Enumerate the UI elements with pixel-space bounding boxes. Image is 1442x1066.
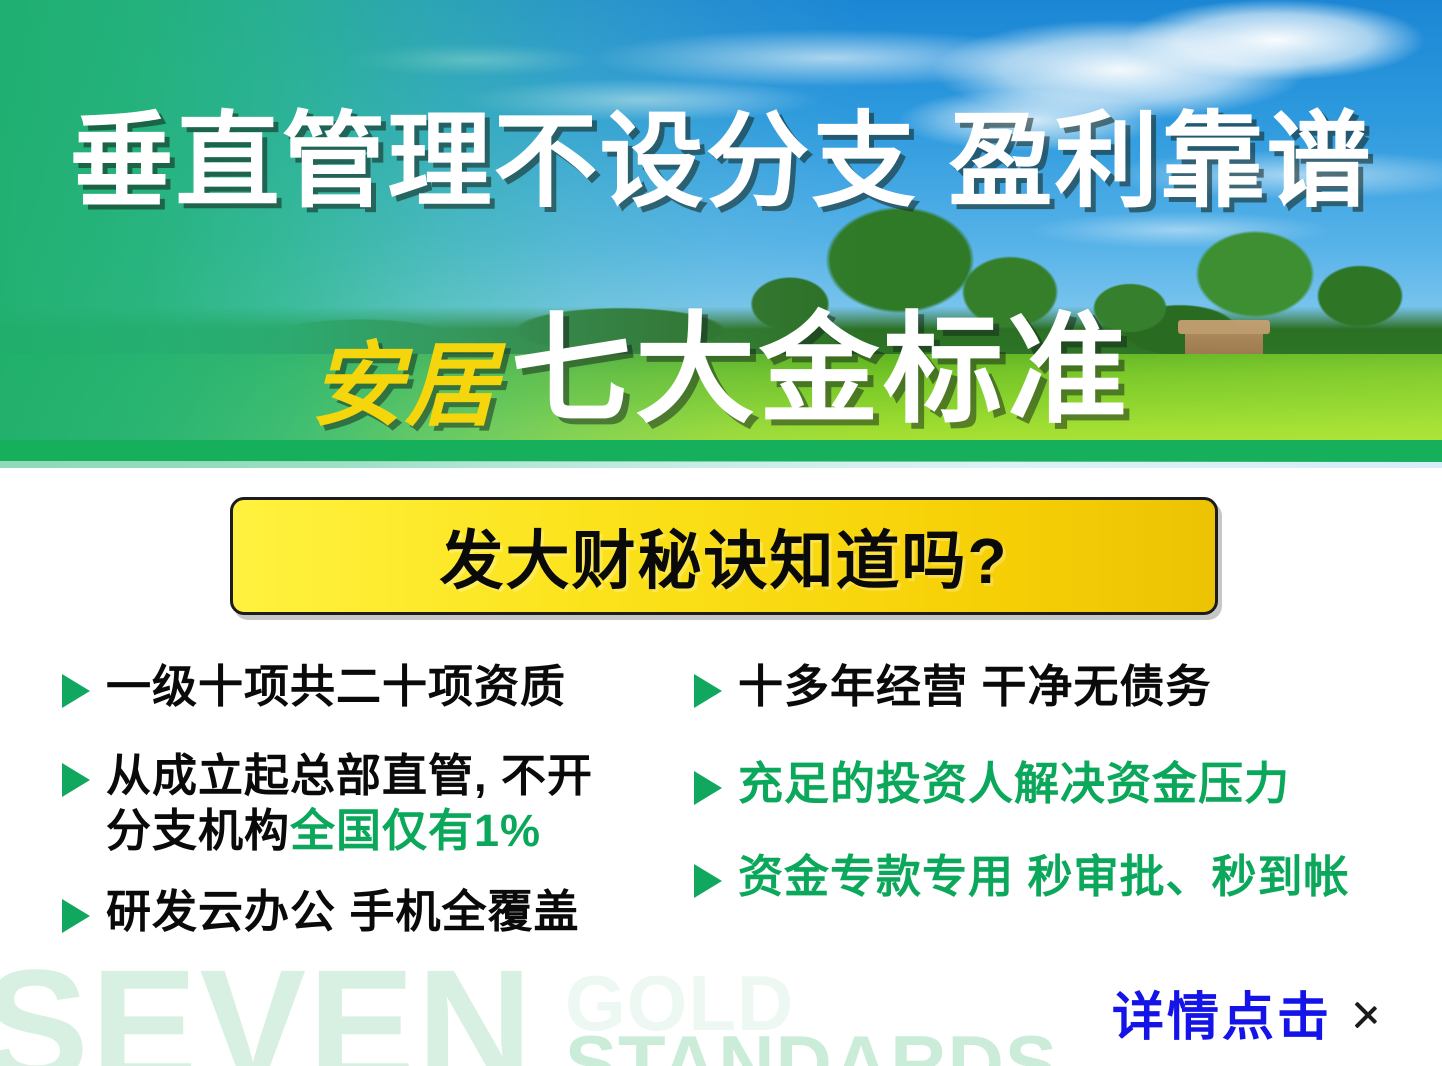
list-item: 充足的投资人解决资金压力 <box>694 757 1394 812</box>
feature-column-left: 一级十项共二十项资质 从成立起总部直管, 不开 分支机构全国仅有1% 研发云办公… <box>62 660 682 962</box>
triangle-bullet-icon <box>694 674 722 708</box>
headline-yellow-banner[interactable]: 发大财秘诀知道吗? <box>230 497 1218 615</box>
hero-brand-text: 安居 <box>311 335 499 437</box>
feature-column-right: 十多年经营 干净无债务 充足的投资人解决资金压力 资金专款专用 秒审批、秒到帐 <box>694 660 1394 927</box>
list-item: 从成立起总部直管, 不开 分支机构全国仅有1% <box>62 749 682 859</box>
yellow-banner-text: 发大财秘诀知道吗? <box>439 510 1008 602</box>
feature-text-left-2: 从成立起总部直管, 不开 分支机构全国仅有1% <box>106 749 593 859</box>
list-item: 研发云办公 手机全覆盖 <box>62 885 682 940</box>
feature-text-left-2-line2: 分支机构 <box>106 805 290 856</box>
cta-label: 详情点击 <box>1112 975 1332 1050</box>
hero-subheadline: 安居七大金标准 <box>0 272 1442 446</box>
list-item: 一级十项共二十项资质 <box>62 660 682 715</box>
chevron-right-icon[interactable] <box>1354 990 1380 1036</box>
list-item: 十多年经营 干净无债务 <box>694 660 1394 715</box>
poster-root: 垂直管理不设分支 盈利靠谱 安居七大金标准 发大财秘诀知道吗? SEVEN GO… <box>0 0 1442 1066</box>
feature-columns: 一级十项共二十项资质 从成立起总部直管, 不开 分支机构全国仅有1% 研发云办公… <box>0 660 1442 990</box>
hero-headline: 垂直管理不设分支 盈利靠谱 <box>0 110 1442 214</box>
triangle-bullet-icon <box>62 763 90 797</box>
hero-main-text: 七大金标准 <box>511 303 1131 437</box>
feature-text-left-2-line1: 从成立起总部直管, 不开 <box>106 750 593 801</box>
bottom-fade-strip <box>0 461 1442 468</box>
triangle-bullet-icon <box>694 864 722 898</box>
feature-text-right-1: 十多年经营 干净无债务 <box>738 660 1212 715</box>
watermark-standards: STANDARDS <box>565 1024 1058 1066</box>
feature-text-left-2-highlight: 全国仅有1% <box>290 805 541 856</box>
triangle-bullet-icon <box>62 899 90 933</box>
details-cta-link[interactable]: 详情点击 <box>1112 975 1380 1050</box>
feature-text-left-3: 研发云办公 手机全覆盖 <box>106 885 580 940</box>
triangle-bullet-icon <box>694 771 722 805</box>
feature-text-right-2: 充足的投资人解决资金压力 <box>738 757 1290 812</box>
feature-text-right-3: 资金专款专用 秒审批、秒到帐 <box>738 850 1350 905</box>
feature-text-left-1: 一级十项共二十项资质 <box>106 660 566 715</box>
triangle-bullet-icon <box>62 674 90 708</box>
hero-banner: 垂直管理不设分支 盈利靠谱 安居七大金标准 <box>0 0 1442 468</box>
list-item: 资金专款专用 秒审批、秒到帐 <box>694 850 1394 905</box>
